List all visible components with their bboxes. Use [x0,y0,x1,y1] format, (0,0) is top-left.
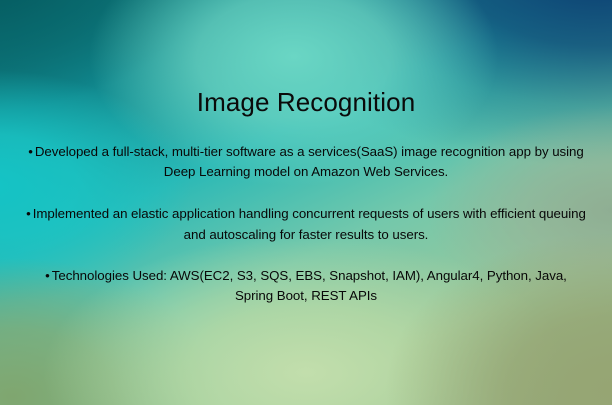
slide-content: Image Recognition •Developed a full-stac… [0,0,612,405]
presentation-slide: Image Recognition •Developed a full-stac… [0,0,612,405]
bullet-text: Technologies Used: AWS(EC2, S3, SQS, EBS… [52,268,567,303]
bullet-marker-icon: • [45,268,52,283]
bullet-marker-icon: • [28,144,35,159]
bullet-text: Implemented an elastic application handl… [33,206,586,241]
slide-title: Image Recognition [0,88,612,117]
bullet-item: •Technologies Used: AWS(EC2, S3, SQS, EB… [26,266,586,306]
bullet-item: •Implemented an elastic application hand… [26,204,586,244]
bullet-text: Developed a full-stack, multi-tier softw… [35,144,584,179]
bullet-marker-icon: • [26,206,33,221]
bullet-item: •Developed a full-stack, multi-tier soft… [26,142,586,182]
bullet-list: •Developed a full-stack, multi-tier soft… [26,142,586,320]
